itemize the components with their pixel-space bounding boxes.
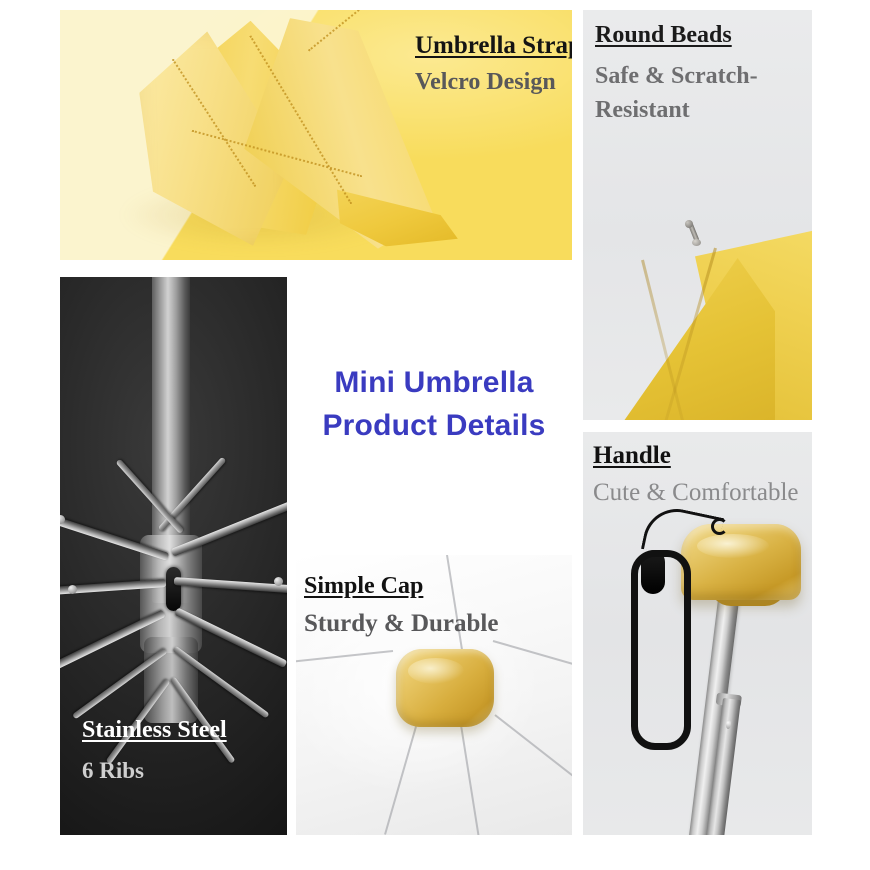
caption-umbrella-strap: Umbrella Strap Velcro Design (415, 32, 572, 96)
panel-heading: Simple Cap (304, 573, 498, 600)
bead-base (692, 239, 701, 246)
bead-ball (685, 220, 693, 228)
page-title: Mini Umbrella Product Details (296, 362, 572, 447)
page-title-line-1: Mini Umbrella (296, 362, 572, 405)
page-title-line-2: Product Details (296, 405, 572, 448)
panel-heading: Handle (593, 442, 799, 470)
panel-subheading: Velcro Design (415, 69, 572, 96)
panel-heading: Stainless Steel (82, 717, 227, 744)
panel-round-beads: Round Beads Safe & Scratch-Resistant (583, 10, 812, 420)
caption-handle: Handle Cute & Comfortable (593, 442, 799, 507)
panel-heading: Umbrella Strap (415, 32, 572, 60)
panel-subheading: Sturdy & Durable (304, 610, 498, 638)
round-bead-tip (683, 222, 705, 246)
gold-top-cap (396, 649, 494, 727)
rib-joint (68, 585, 77, 594)
caption-round-beads: Round Beads Safe & Scratch-Resistant (595, 22, 810, 127)
panel-subheading: Cute & Comfortable (593, 479, 799, 507)
panel-stainless-steel: Stainless Steel 6 Ribs (60, 277, 287, 835)
panel-handle: Handle Cute & Comfortable (583, 432, 812, 835)
panel-subheading: Safe & Scratch-Resistant (595, 59, 810, 127)
shaft-lock-button (166, 567, 181, 611)
panel-simple-cap: Simple Cap Sturdy & Durable (296, 555, 572, 835)
panel-heading: Round Beads (595, 22, 810, 49)
umbrella-strap-photo (138, 15, 452, 250)
panel-umbrella-strap: Umbrella Strap Velcro Design (60, 10, 572, 260)
wrist-strap-loop (631, 550, 691, 750)
wrist-strap-hook (711, 518, 728, 535)
rib-joint (274, 577, 283, 586)
panel-subheading: 6 Ribs (82, 758, 227, 784)
caption-stainless-steel: Stainless Steel 6 Ribs (82, 717, 227, 784)
infographic-canvas: Umbrella Strap Velcro Design Round Beads… (0, 0, 870, 870)
caption-simple-cap: Simple Cap Sturdy & Durable (304, 573, 498, 638)
